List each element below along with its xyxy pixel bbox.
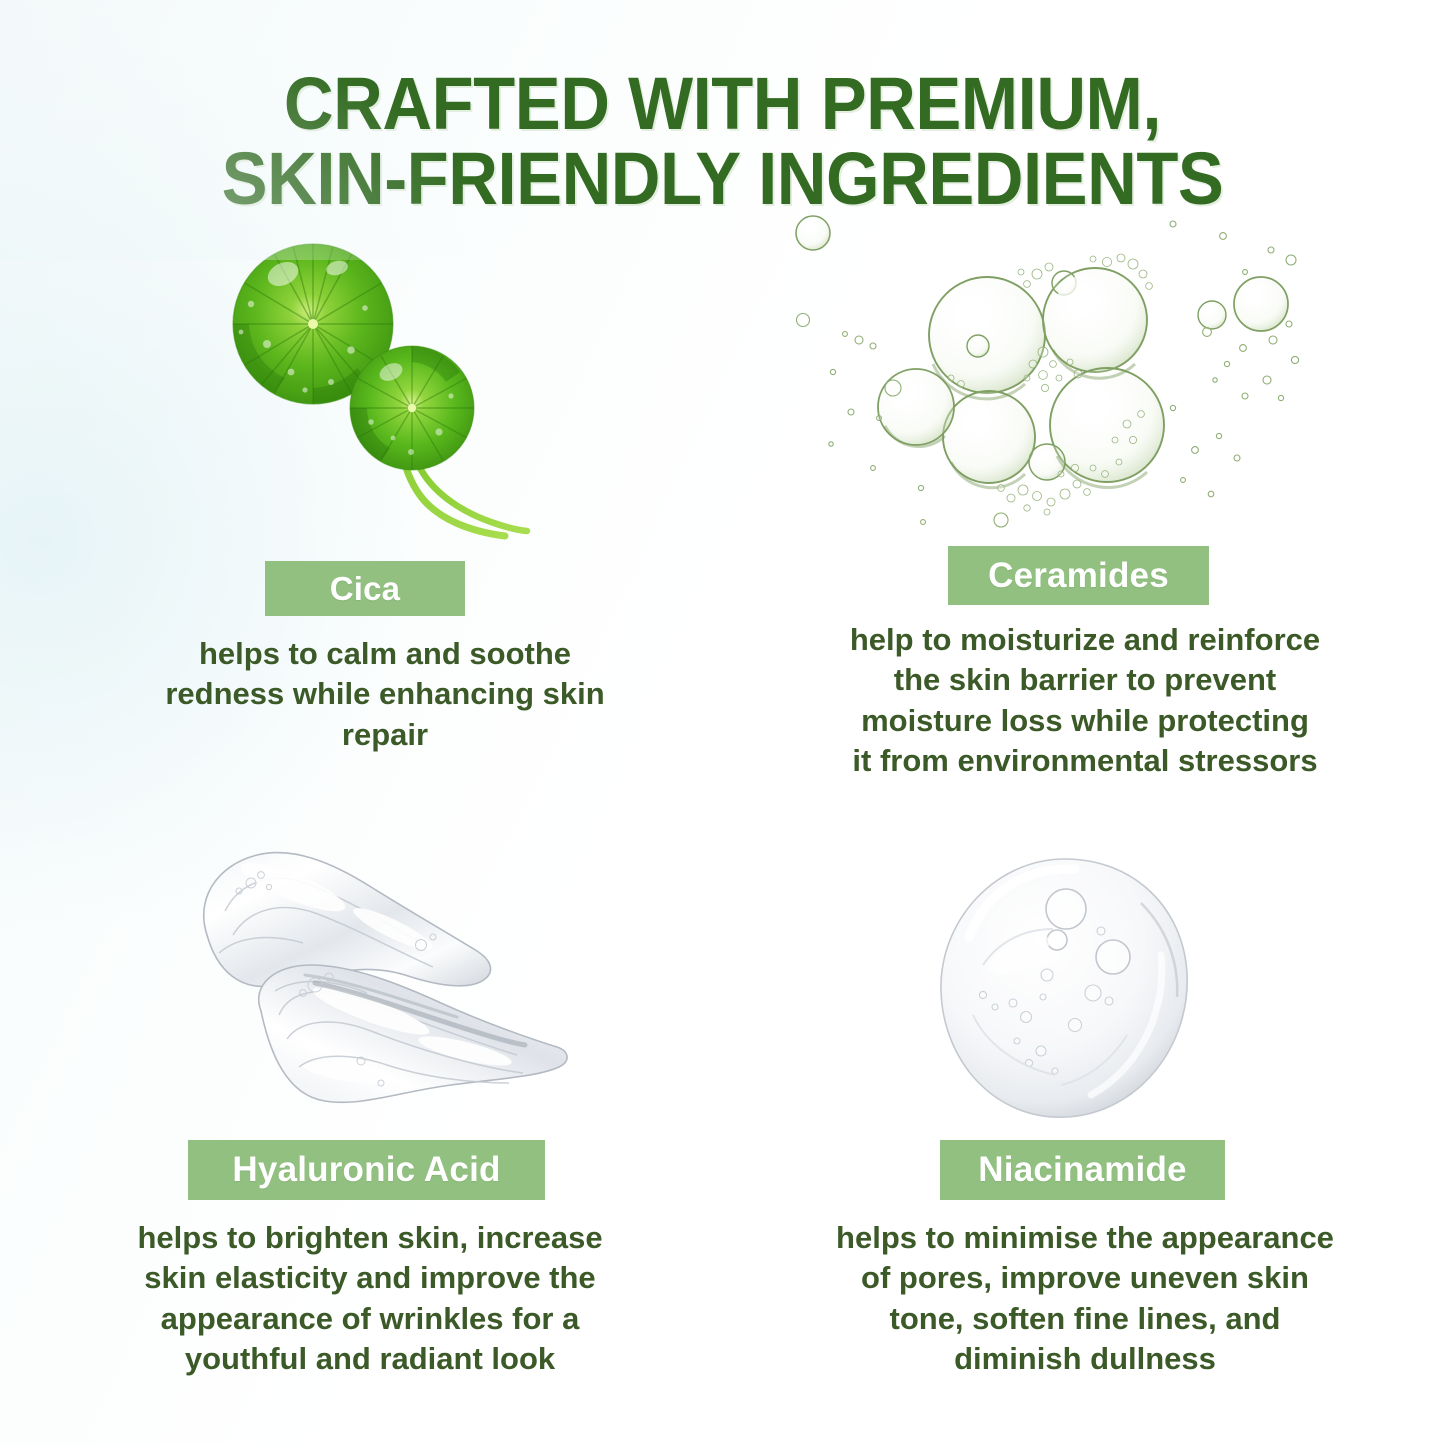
bubble-cluster-icon bbox=[775, 212, 1315, 532]
ingredient-name: Hyaluronic Acid bbox=[232, 1150, 500, 1190]
ingredient-description: help to moisturize and reinforce the ski… bbox=[835, 620, 1335, 781]
ingredient-name: Cica bbox=[330, 570, 401, 608]
ingredient-name-badge: Hyaluronic Acid bbox=[188, 1140, 545, 1200]
ingredient-name: Ceramides bbox=[988, 556, 1169, 596]
ingredient-name-badge: Niacinamide bbox=[940, 1140, 1225, 1200]
ingredients-infographic: CRAFTED WITH PREMIUM, SKIN-FRIENDLY INGR… bbox=[0, 0, 1445, 1445]
ingredient-description: helps to calm and soothe redness while e… bbox=[150, 634, 620, 755]
ingredient-name-badge: Ceramides bbox=[948, 546, 1209, 605]
page-title: CRAFTED WITH PREMIUM, SKIN-FRIENDLY INGR… bbox=[51, 66, 1395, 217]
ingredient-description: helps to minimise the appearance of pore… bbox=[835, 1218, 1335, 1379]
ingredient-name-badge: Cica bbox=[265, 561, 465, 616]
clear-gel-droplet-icon bbox=[895, 845, 1235, 1135]
ingredient-name: Niacinamide bbox=[978, 1150, 1186, 1190]
centella-leaves-icon bbox=[205, 232, 565, 547]
clear-gel-smear-icon bbox=[165, 825, 585, 1125]
ingredient-description: helps to brighten skin, increase skin el… bbox=[120, 1218, 620, 1379]
